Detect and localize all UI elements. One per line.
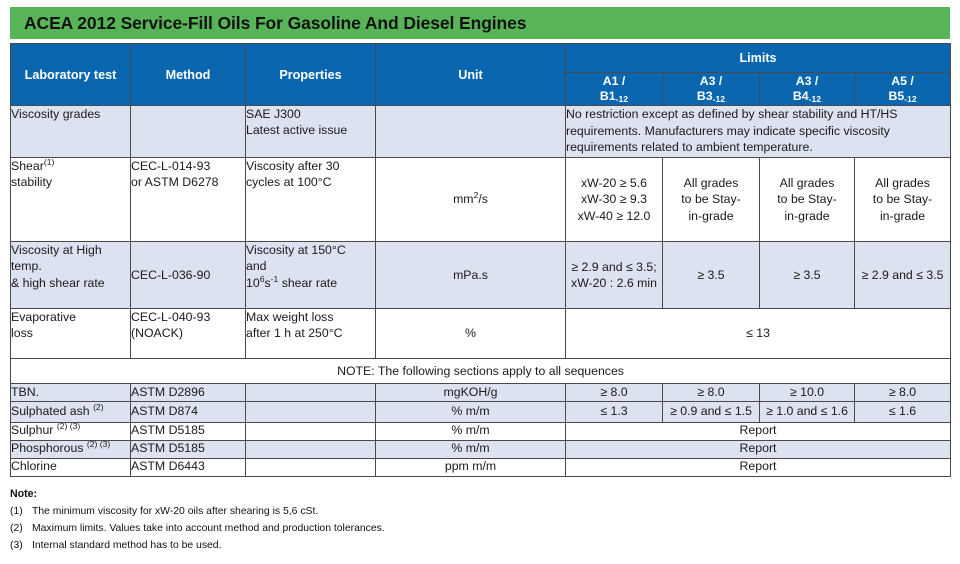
properties-line-3: 106s-1 shear rate [246,275,375,291]
test-line-3: & high shear rate [11,275,130,291]
test-line-2: loss [11,325,130,341]
table-row-sulphur: Sulphur (2) (3) ASTM D5185 % m/m Report [11,422,951,440]
properties-line-1: Viscosity at 150°C [246,242,375,258]
column-header-a3-b3: A3 / B3-12 [663,73,760,106]
footnote-number-3: (3) [10,541,32,551]
cell-limit-a3b4-tbn: ≥ 10.0 [760,384,855,402]
cell-unit-evaporative-loss: % [376,309,566,359]
limit-line-3: in-grade [663,208,759,224]
cell-test-tbn: TBN. [11,384,131,402]
limit-line-2: to be Stay- [855,191,950,207]
cell-properties-phosphorous [246,440,376,458]
method-line-1: CEC-L-040-93 [131,309,245,325]
cell-unit-sulphur: % m/m [376,422,566,440]
limit-line-1: All grades [760,175,854,191]
cell-test-viscosity-grades: Viscosity grades [11,106,131,158]
cell-test-phosphorous: Phosphorous (2) (3) [11,440,131,458]
cell-properties-shear-stability: Viscosity after 30 cycles at 100°C [246,158,376,242]
limit-line-3: in-grade [855,208,950,224]
limit-line-1: All grades [855,175,950,191]
column-header-a5-b5: A5 / B5-12 [855,73,951,106]
column-header-unit: Unit [376,44,566,106]
cell-method-hths: CEC-L-036-90 [131,242,246,309]
cell-unit-shear-stability: mm2/s [376,158,566,242]
a3-b4-line1: A3 / [760,74,854,89]
cell-limit-a3b3-hths: ≥ 3.5 [663,242,760,309]
column-header-a3-b4: A3 / B4-12 [760,73,855,106]
cell-limit-a3b3-sulphated-ash: ≥ 0.9 and ≤ 1.5 [663,402,760,423]
cell-limit-a5b5-tbn: ≥ 8.0 [855,384,951,402]
acea-specification-table: Laboratory test Method Properties Unit L… [10,43,951,477]
cell-unit-chlorine: ppm m/m [376,458,566,476]
footnote-marker-2: (2) [93,402,104,412]
cell-limit-a3b4-sulphated-ash: ≥ 1.0 and ≤ 1.6 [760,402,855,423]
cell-limits-evaporative-loss: ≤ 13 [566,309,951,359]
limit-line-3: in-grade [760,208,854,224]
footnote-item-3: (3)Internal standard method has to be us… [10,541,610,551]
test-line-1: Evaporative [11,309,130,325]
a1-b1-line2: B1-12 [566,89,662,104]
limit-line-2: xW-20 : 2.6 min [569,275,659,291]
cell-limits-sulphur: Report [566,422,951,440]
table-row-high-temp-high-shear: Viscosity at High temp. & high shear rat… [11,242,951,309]
properties-line-2: after 1 h at 250°C [246,325,375,341]
footnote-item-2: (2)Maximum limits. Values take into acco… [10,524,610,534]
limit-line-1: All grades [663,175,759,191]
cell-method-viscosity-grades [131,106,246,158]
table-row-chlorine: Chlorine ASTM D6443 ppm m/m Report [11,458,951,476]
cell-limits-phosphorous: Report [566,440,951,458]
footnote-text-2: Maximum limits. Values take into account… [32,523,385,534]
cell-test-sulphated-ash: Sulphated ash (2) [11,402,131,423]
cell-test-sulphur: Sulphur (2) (3) [11,422,131,440]
a3-b4-line2: B4-12 [760,89,854,104]
cell-method-shear-stability: CEC-L-014-93 or ASTM D6278 [131,158,246,242]
cell-limit-a5b5-sulphated-ash: ≤ 1.6 [855,402,951,423]
footnote-marker-1: (1) [44,157,55,167]
a5-b5-line1: A5 / [855,74,950,89]
cell-unit-phosphorous: % m/m [376,440,566,458]
properties-line-1: SAE J300 [246,106,375,122]
cell-method-chlorine: ASTM D6443 [131,458,246,476]
cell-method-evaporative-loss: CEC-L-040-93 (NOACK) [131,309,246,359]
a3-b3-line1: A3 / [663,74,759,89]
shear-test-line-2: stability [11,174,130,190]
cell-unit-viscosity-grades [376,106,566,158]
properties-line-1: Viscosity after 30 [246,158,375,174]
cell-unit-hths: mPa.s [376,242,566,309]
cell-limit-a5b5-shear-stability: All grades to be Stay- in-grade [855,158,951,242]
column-header-method: Method [131,44,246,106]
cell-limit-a3b3-tbn: ≥ 8.0 [663,384,760,402]
table-row-phosphorous: Phosphorous (2) (3) ASTM D5185 % m/m Rep… [11,440,951,458]
cell-limit-a1b1-sulphated-ash: ≤ 1.3 [566,402,663,423]
footnotes-block: Note: (1)The minimum viscosity for xW-20… [10,489,610,559]
table-row-evaporative-loss: Evaporative loss CEC-L-040-93 (NOACK) Ma… [11,309,951,359]
cell-unit-tbn: mgKOH/g [376,384,566,402]
cell-properties-tbn [246,384,376,402]
cell-test-hths: Viscosity at High temp. & high shear rat… [11,242,131,309]
cell-test-evaporative-loss: Evaporative loss [11,309,131,359]
shear-test-line-1: Shear(1) [11,158,130,174]
cell-test-shear-stability: Shear(1) stability [11,158,131,242]
cell-limit-a1b1-hths: ≥ 2.9 and ≤ 3.5; xW-20 : 2.6 min [566,242,663,309]
footnote-item-1: (1)The minimum viscosity for xW-20 oils … [10,507,610,517]
column-header-laboratory-test: Laboratory test [11,44,131,106]
footnote-number-2: (2) [10,524,32,534]
limit-line-1: xW-20 ≥ 5.6 [566,175,662,191]
cell-method-sulphur: ASTM D5185 [131,422,246,440]
column-header-properties: Properties [246,44,376,106]
cell-properties-viscosity-grades: SAE J300 Latest active issue [246,106,376,158]
cell-properties-sulphated-ash [246,402,376,423]
column-header-limits: Limits [566,44,951,73]
note-banner-text: NOTE: The following sections apply to al… [11,359,951,384]
footnote-number-1: (1) [10,507,32,517]
page-title: ACEA 2012 Service-Fill Oils For Gasoline… [10,13,526,34]
table-row-tbn: TBN. ASTM D2896 mgKOH/g ≥ 8.0 ≥ 8.0 ≥ 10… [11,384,951,402]
properties-line-1: Max weight loss [246,309,375,325]
cell-limit-a3b4-shear-stability: All grades to be Stay- in-grade [760,158,855,242]
limit-line-2: to be Stay- [760,191,854,207]
table-row-shear-stability: Shear(1) stability CEC-L-014-93 or ASTM … [11,158,951,242]
a3-b3-line2: B3-12 [663,89,759,104]
cell-limits-viscosity-grades: No restriction except as defined by shea… [566,106,951,158]
limit-line-3: xW-40 ≥ 12.0 [566,208,662,224]
limit-line-1: ≥ 2.9 and ≤ 3.5; [569,259,659,275]
table-row-note-banner: NOTE: The following sections apply to al… [11,359,951,384]
cell-limit-a5b5-hths: ≥ 2.9 and ≤ 3.5 [855,242,951,309]
page-root: ACEA 2012 Service-Fill Oils For Gasoline… [0,0,960,564]
limit-line-2: xW-30 ≥ 9.3 [566,191,662,207]
limit-line-2: to be Stay- [663,191,759,207]
footnote-text-3: Internal standard method has to be used. [32,540,221,551]
footnotes-heading: Note: [10,489,610,500]
test-line-1: Viscosity at High [11,242,130,258]
table-row-viscosity-grades: Viscosity grades SAE J300 Latest active … [11,106,951,158]
cell-test-chlorine: Chlorine [11,458,131,476]
cell-properties-evaporative-loss: Max weight loss after 1 h at 250°C [246,309,376,359]
cell-method-tbn: ASTM D2896 [131,384,246,402]
method-line-2: (NOACK) [131,325,245,341]
footnote-marker-2-3: (2) (3) [87,439,110,449]
a1-b1-line1: A1 / [566,74,662,89]
method-line-2: or ASTM D6278 [131,174,245,190]
table-header-row-main: Laboratory test Method Properties Unit L… [11,44,951,73]
cell-properties-sulphur [246,422,376,440]
cell-method-phosphorous: ASTM D5185 [131,440,246,458]
a5-b5-line2: B5-12 [855,89,950,104]
cell-properties-hths: Viscosity at 150°C and 106s-1 shear rate [246,242,376,309]
test-line-2: temp. [11,258,130,274]
properties-line-2: Latest active issue [246,122,375,138]
cell-limit-a3b4-hths: ≥ 3.5 [760,242,855,309]
properties-line-2: and [246,258,375,274]
cell-limit-a1b1-shear-stability: xW-20 ≥ 5.6 xW-30 ≥ 9.3 xW-40 ≥ 12.0 [566,158,663,242]
table-row-sulphated-ash: Sulphated ash (2) ASTM D874 % m/m ≤ 1.3 … [11,402,951,423]
properties-line-2: cycles at 100°C [246,174,375,190]
cell-limit-a1b1-tbn: ≥ 8.0 [566,384,663,402]
cell-unit-sulphated-ash: % m/m [376,402,566,423]
cell-limit-a3b3-shear-stability: All grades to be Stay- in-grade [663,158,760,242]
cell-limits-chlorine: Report [566,458,951,476]
cell-method-sulphated-ash: ASTM D874 [131,402,246,423]
method-line-1: CEC-L-014-93 [131,158,245,174]
footnote-text-1: The minimum viscosity for xW-20 oils aft… [32,506,318,517]
document-title-bar: ACEA 2012 Service-Fill Oils For Gasoline… [10,7,950,39]
footnote-marker-2-3: (2) (3) [57,421,80,431]
cell-properties-chlorine [246,458,376,476]
column-header-a1-b1: A1 / B1-12 [566,73,663,106]
